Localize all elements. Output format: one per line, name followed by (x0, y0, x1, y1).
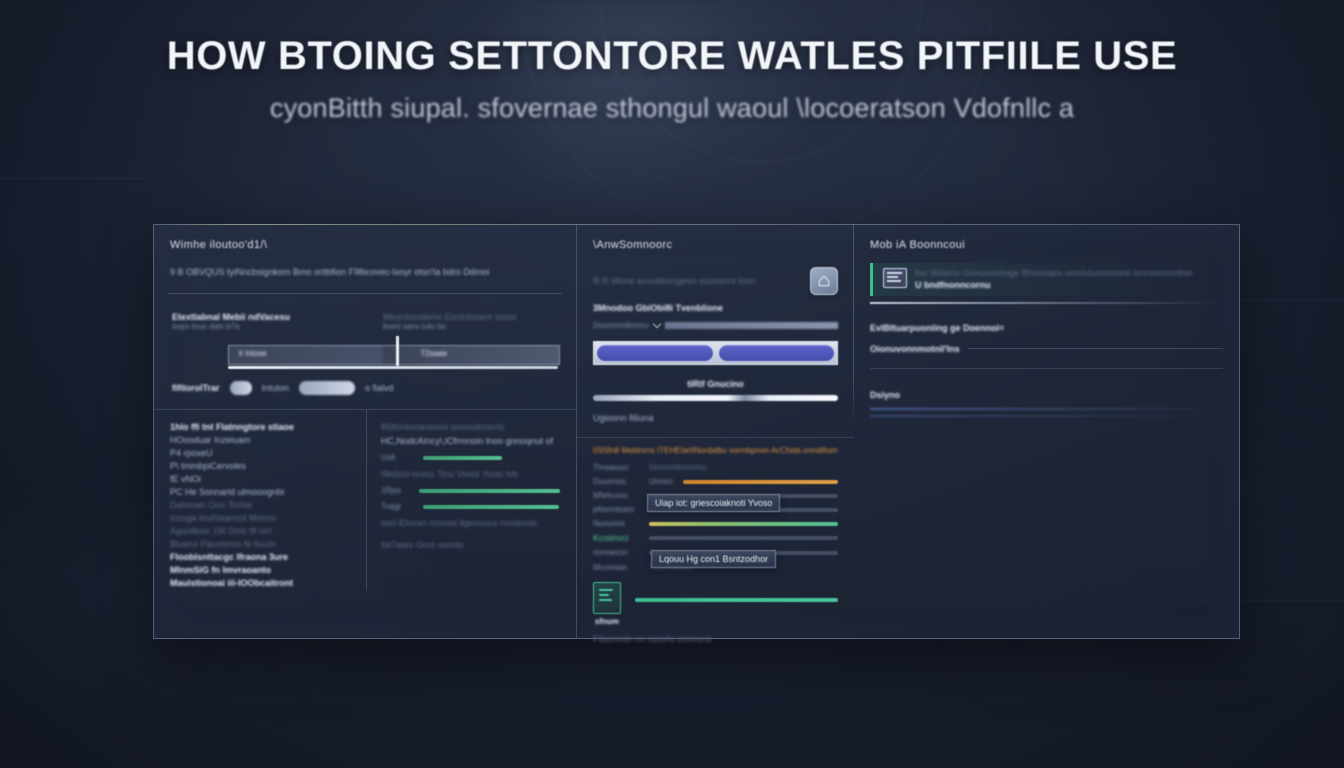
stat-2-label: Meantonoterivi Eonintonem ionos (383, 312, 558, 322)
stat-card-1: Etextlabnal Mebii ndVacesu ioqrs tous da… (172, 312, 347, 331)
row-key: Duuonoo. (593, 477, 641, 486)
table-row[interactable]: Duuonoo. Unnivc (593, 477, 838, 486)
list-item[interactable]: fE vNOi (170, 474, 356, 484)
row-key: pNonntoam (593, 505, 641, 514)
mid-select[interactable]: Dooonnnlltoncu (593, 316, 838, 334)
stat-card-2: Meantonoterivi Eonintonem ionos bomi san… (383, 312, 558, 331)
list-item[interactable]: P\ tmmbpiCervoles (170, 461, 356, 471)
left-panel-title: Wimhe iloutoo'd1/\ (170, 239, 560, 251)
left-divider-1 (168, 293, 562, 294)
row-key: Thraauuci (593, 463, 641, 472)
bars-footer: fot7ates Onnt vonnts (381, 540, 560, 550)
slider-bar[interactable]: li Intose T2saae (228, 345, 560, 365)
bar-row: 1Rjss (381, 486, 560, 495)
bars-header-small: lfiiiltnntnnanemni ooomotmsnts (381, 422, 560, 432)
stat-2-sub: bomi sans tuto bo (383, 322, 558, 331)
right-streak-2 (870, 415, 1223, 417)
table-row[interactable]: Kcoiinvci (593, 533, 838, 543)
row-value: Ionnnntonnmu (649, 462, 707, 472)
mid-button-group (593, 341, 838, 365)
mid-doc-row: sfnum (593, 582, 838, 626)
bar-label: Uofi (381, 453, 415, 462)
right-row-2-label: Oionuvonnmotnil'Ins (870, 344, 960, 354)
mid-bottom-label: Ugioonn fi6una (593, 413, 838, 423)
list-item[interactable]: Mauistionoai iii-IOObcaitront (170, 578, 356, 588)
range-slider[interactable]: li Intose T2saae (228, 345, 558, 371)
highlight-underline (870, 302, 1223, 304)
bars-header: HC,NodcAIncy\,lCfrmnoin lnoo gnnoqnut of (381, 436, 560, 446)
row-key: nonneiciri (593, 548, 641, 557)
left-header-block: Wimhe iloutoo'd1/\ (154, 239, 576, 251)
row-key: Kcoiinvci (593, 533, 641, 543)
mid-info-line: ffi R lillone avvoliliorngeon eiuooinnt … (593, 276, 802, 286)
tooltip-2: Lqouu Hg con1 Bsntzodhor (651, 550, 776, 568)
right-header-block: Mob iA Boonncoui too Wolenu Gonuoochnge … (854, 239, 1239, 417)
filter-pill-1[interactable] (230, 381, 252, 395)
bar-fill (423, 505, 559, 509)
right-column: Mob iA Boonncoui too Wolenu Gonuoochnge … (854, 225, 1239, 638)
page-title: HOW BTOING SETTONTORE WATLES PITFIILE US… (0, 34, 1344, 79)
row-bar-fill (683, 480, 838, 484)
list-item[interactable]: MInmSiG fn Imvraoanto (170, 565, 356, 575)
hero-text-block: HOW BTOING SETTONTORE WATLES PITFIILE US… (0, 34, 1344, 124)
mid-table-header: 0SSfn8 Mebtnrns ITEHEIarIINonbdbu vormbp… (593, 446, 838, 455)
mid-progress-track[interactable] (593, 395, 838, 401)
list-item[interactable]: lozuga bodVaarscd Monns (170, 513, 356, 523)
list-item[interactable]: P4 rpoxeU (170, 448, 356, 458)
mid-select-value: Dooonnnlltoncu (593, 321, 649, 330)
right-row-2-rule (968, 348, 1223, 349)
bar-row: Trajgl (381, 502, 560, 511)
bar-row-note: ioici lDocvn rrnnooi llgevuuco ronstnnio (381, 518, 560, 528)
stat-1-sub: ioqrs tous dalo b7a (172, 322, 347, 331)
bar-row-note: 9lkdzoi-orocu Tinu Vonot Yooic lvb (381, 469, 560, 479)
row-key: MNAcovo (593, 491, 641, 500)
primary-button-1[interactable] (597, 345, 713, 361)
card-title: too Wolenu Gonuoochnge Bhnnnaos omolulun… (915, 268, 1215, 278)
chevron-down-icon[interactable] (653, 316, 661, 334)
slider-left-label: li Intose (239, 349, 267, 358)
right-row-1-label: EvlBltuarpuoniing ge Doennoi= (870, 323, 1004, 333)
table-row[interactable]: Thraauuci Ionnnntonnmu (593, 462, 838, 472)
home-icon[interactable] (810, 267, 838, 295)
left-bars: lfiiiltnntnnanemni ooomotmsnts HC,NodcAI… (367, 410, 576, 591)
list-item[interactable]: 1hlo ffi tnt Flatnngtore stiaoe (170, 422, 356, 432)
filter-label: fifilorolTrar (172, 383, 220, 393)
right-divider (870, 368, 1223, 369)
list-item[interactable]: HOooduar Inzeiuam (170, 435, 356, 445)
row-value: Unnivc (649, 477, 675, 486)
mid-section-label: 3Mnodoo GbiObi8i Tvenblione (593, 303, 838, 313)
left-split-region: 1hlo ffi tnt Flatnngtore stiaoe HOooduar… (154, 409, 576, 591)
right-row-1[interactable]: EvlBltuarpuoniing ge Doennoi= (870, 318, 1223, 336)
mid-header-block: \AnwSomnoorc ffi R lillone avvoliliornge… (577, 239, 854, 423)
bar-label: 1Rjss (381, 486, 411, 495)
right-panel-title: Mob iA Boonncoui (870, 239, 1223, 251)
doc-icon-wrap[interactable]: sfnum (593, 582, 621, 626)
dashboard-panel: Wimhe iloutoo'd1/\ 9 B OBVQUS tyiNncbsig… (153, 224, 1240, 639)
filter-pill-1-label: Intuton (262, 383, 290, 393)
list-item[interactable]: Dalmnan Ono Tortse (170, 500, 356, 510)
mid-select-track (665, 322, 838, 329)
bar-label: Trajgl (381, 502, 415, 511)
card-subtitle: U bndfnonncornu (915, 280, 1215, 290)
tooltip-2-text: Lqouu Hg con1 Bsntzodhor (659, 554, 768, 564)
row-bar-fill (649, 522, 838, 526)
right-legend-row[interactable]: Dsiyno (870, 385, 1223, 403)
left-list: 1hlo ffi tnt Flatnngtore stiaoe HOooduar… (154, 410, 367, 591)
bar-row: Uofi (381, 453, 560, 462)
mid-divider (577, 437, 854, 438)
page-subtitle: cyonBitth siupal. sfovernae sthongul wao… (0, 93, 1344, 124)
doc-icon-label: sfnum (593, 617, 621, 626)
mid-track-label: tiRif Gnucino (593, 379, 838, 389)
list-item[interactable]: Agunilbon 1W Dnis 9f.nirt (170, 526, 356, 536)
window-icon (883, 268, 907, 288)
document-icon[interactable] (593, 582, 621, 614)
row-key: Mcuvnian (593, 563, 641, 572)
mid-doc-footer: Fibunnntn nn iuoorlu oonvuns (593, 634, 838, 644)
filter-pill-2-label: o fialvd (365, 383, 394, 393)
list-item[interactable]: Bbaoui Paustoruo fit 9uuin (170, 539, 356, 549)
slider-handle[interactable] (396, 336, 399, 366)
row-key: Nunuiooi (593, 519, 641, 528)
bar-fill (419, 489, 560, 493)
mid-panel-title: \AnwSomnoorc (593, 239, 838, 251)
list-item[interactable]: Flooblsnttacgc lfraona 3ure (170, 552, 356, 562)
right-row-2[interactable]: Oionuvonnmotnil'Ins (870, 344, 1223, 354)
filter-row: fifilorolTrar Intuton o fialvd (154, 381, 576, 395)
left-column: Wimhe iloutoo'd1/\ 9 B OBVQUS tyiNncbsig… (154, 225, 577, 638)
primary-button-2[interactable] (719, 345, 835, 361)
left-subheader-row: 9 B OBVQUS tyiNncbsignkom Bmo oritbfion … (154, 267, 576, 277)
bar-note: 9lkdzoi-orocu Tinu Vonot Yooic lvb (381, 469, 518, 479)
bar-fill (423, 456, 502, 460)
mid-bottom-bar (635, 598, 838, 602)
stat-1-label: Etextlabnal Mebii ndVacesu (172, 312, 347, 322)
table-row[interactable]: Nunuiooi (593, 519, 838, 528)
middle-column: \AnwSomnoorc ffi R lillone avvoliliornge… (577, 225, 854, 638)
bar-note: ioici lDocvn rrnnooi llgevuuco ronstnnio (381, 518, 537, 528)
tooltip-1-text: Uiap iot: griescoiaknoti Yvoso (655, 498, 772, 508)
left-panel-subtitle: 9 B OBVQUS tyiNncbsignkom Bmo oritbfion … (170, 267, 560, 277)
slider-right-label: T2saae (420, 349, 447, 358)
mid-table: 0SSfn8 Mebtnrns ITEHEIarIINonbdbu vormbp… (577, 446, 854, 644)
row-bar-track (649, 536, 838, 540)
left-stats-row: Etextlabnal Mebii ndVacesu ioqrs tous da… (154, 312, 576, 331)
highlight-card[interactable]: too Wolenu Gonuoochnge Bhnnnaos omolulun… (870, 263, 1223, 296)
right-legend-label: Dsiyno (870, 390, 900, 400)
tooltip-1: Uiap iot: griescoiaknoti Yvoso (647, 494, 780, 512)
right-streak-1 (870, 408, 1223, 410)
slider-track[interactable] (228, 366, 558, 369)
list-item[interactable]: PC He Sonnarid ulmooognbi (170, 487, 356, 497)
mid-info-row: ffi R lillone avvoliliorngeon eiuooinnt … (593, 267, 838, 295)
filter-pill-2[interactable] (299, 381, 355, 395)
